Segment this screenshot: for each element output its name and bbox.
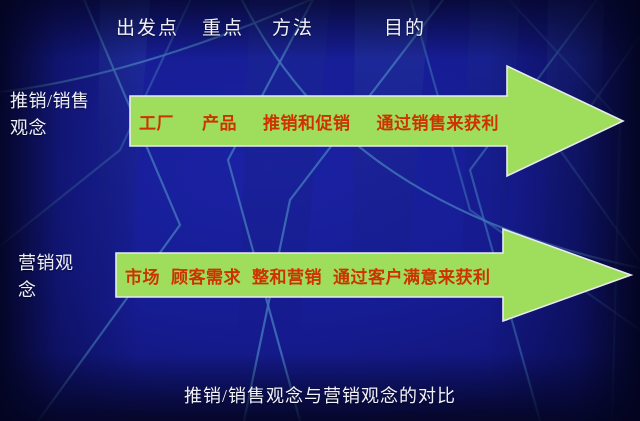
slide-caption: 推销/销售观念与营销观念的对比	[0, 382, 640, 408]
header-item-starting-point: 出发点	[116, 14, 179, 44]
selling-concept-arrow-shape	[129, 63, 625, 179]
slide-canvas: 出发点 重点 方法 目的 推销/销售 观念 营销观 念 工厂 产品 推销和促销 …	[0, 0, 640, 421]
row-label-selling-concept: 推销/销售 观念	[10, 88, 130, 142]
selling-concept-arrow: 工厂 产品 推销和促销 通过销售来获利	[129, 63, 625, 179]
marketing-concept-arrow: 市场 顾客需求 整和营销 通过客户满意来获利	[115, 226, 633, 324]
header-item-goal: 目的	[384, 14, 426, 44]
header-item-focus: 重点	[202, 14, 244, 44]
header-item-method: 方法	[272, 14, 314, 44]
marketing-concept-arrow-shape	[115, 226, 633, 324]
column-header-row: 出发点 重点 方法 目的	[0, 14, 640, 48]
